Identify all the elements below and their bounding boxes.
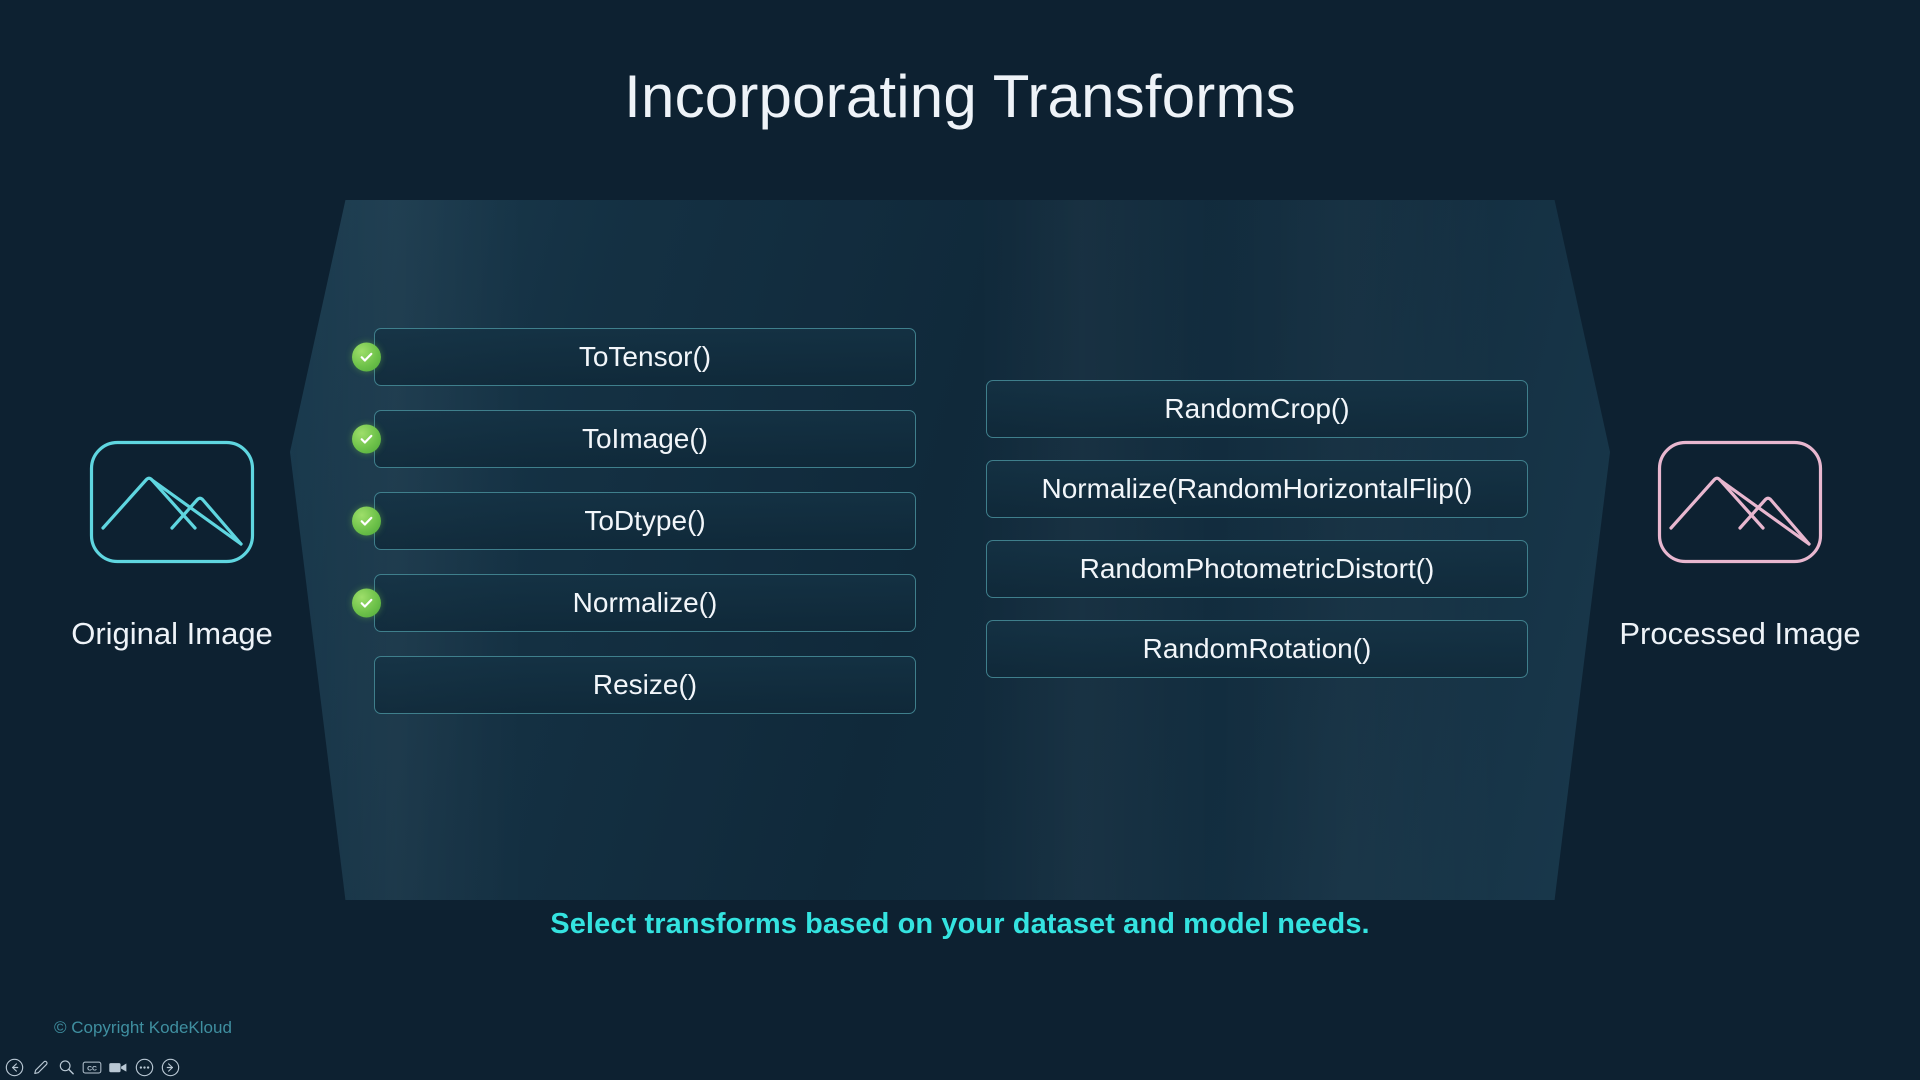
original-image-label: Original Image	[42, 616, 302, 652]
transform-box[interactable]: Normalize(RandomHorizontalFlip()	[986, 460, 1528, 518]
transform-item[interactable]: Normalize(RandomHorizontalFlip()	[986, 460, 1528, 518]
transform-label: Normalize()	[573, 589, 718, 617]
check-badge[interactable]	[352, 507, 381, 536]
processed-image-endpoint: Processed Image	[1610, 440, 1870, 652]
annotate-button[interactable]	[30, 1057, 50, 1077]
transform-box[interactable]: RandomRotation()	[986, 620, 1528, 678]
selected-transforms-list: ToTensor()ToImage()ToDtype()Normalize()R…	[374, 328, 916, 738]
previous-slide-button[interactable]	[4, 1057, 24, 1077]
transform-item[interactable]: RandomRotation()	[986, 620, 1528, 678]
available-transforms-list: RandomCrop()Normalize(RandomHorizontalFl…	[986, 380, 1528, 700]
player-toolbar: CC	[4, 1056, 180, 1078]
transform-item[interactable]: Resize()	[374, 656, 916, 714]
svg-text:CC: CC	[87, 1065, 97, 1072]
check-badge[interactable]	[352, 343, 381, 372]
transform-box[interactable]: ToTensor()	[374, 328, 916, 386]
transform-item[interactable]: RandomPhotometricDistort()	[986, 540, 1528, 598]
check-icon	[358, 595, 375, 612]
image-icon	[89, 440, 255, 564]
page-title: Incorporating Transforms	[0, 62, 1920, 131]
transform-label: Normalize(RandomHorizontalFlip()	[1041, 475, 1472, 503]
captions-button[interactable]: CC	[82, 1057, 102, 1077]
arrow-right-circle-icon	[161, 1058, 180, 1077]
arrow-left-circle-icon	[5, 1058, 24, 1077]
video-camera-icon	[108, 1058, 128, 1077]
processed-image-label: Processed Image	[1610, 616, 1870, 652]
transform-item[interactable]: RandomCrop()	[986, 380, 1528, 438]
transform-box[interactable]: Normalize()	[374, 574, 916, 632]
cc-icon: CC	[82, 1058, 102, 1077]
image-icon	[1657, 440, 1823, 564]
check-badge[interactable]	[352, 589, 381, 618]
transform-box[interactable]: ToImage()	[374, 410, 916, 468]
original-image-endpoint: Original Image	[42, 440, 302, 652]
transform-label: ToImage()	[582, 425, 708, 453]
check-icon	[358, 513, 375, 530]
slide-caption: Select transforms based on your dataset …	[0, 908, 1920, 941]
magnifier-icon	[57, 1058, 76, 1077]
transform-box[interactable]: RandomCrop()	[986, 380, 1528, 438]
transform-item[interactable]: ToTensor()	[374, 328, 916, 386]
transform-label: RandomCrop()	[1164, 395, 1349, 423]
transform-label: Resize()	[593, 671, 697, 699]
check-icon	[358, 349, 375, 366]
ellipsis-circle-icon	[135, 1058, 154, 1077]
more-options-button[interactable]	[134, 1057, 154, 1077]
transform-box[interactable]: Resize()	[374, 656, 916, 714]
check-badge[interactable]	[352, 425, 381, 454]
transform-label: RandomRotation()	[1143, 635, 1372, 663]
transform-item[interactable]: Normalize()	[374, 574, 916, 632]
transform-box[interactable]: RandomPhotometricDistort()	[986, 540, 1528, 598]
transform-label: ToDtype()	[584, 507, 705, 535]
transform-label: RandomPhotometricDistort()	[1080, 555, 1435, 583]
transform-item[interactable]: ToImage()	[374, 410, 916, 468]
check-icon	[358, 431, 375, 448]
copyright-notice: © Copyright KodeKloud	[54, 1018, 232, 1038]
zoom-button[interactable]	[56, 1057, 76, 1077]
pencil-icon	[31, 1058, 50, 1077]
slide-canvas: Incorporating Transforms Original Image …	[0, 0, 1920, 1080]
video-button[interactable]	[108, 1057, 128, 1077]
transform-box[interactable]: ToDtype()	[374, 492, 916, 550]
transform-item[interactable]: ToDtype()	[374, 492, 916, 550]
next-slide-button[interactable]	[160, 1057, 180, 1077]
transform-label: ToTensor()	[579, 343, 711, 371]
